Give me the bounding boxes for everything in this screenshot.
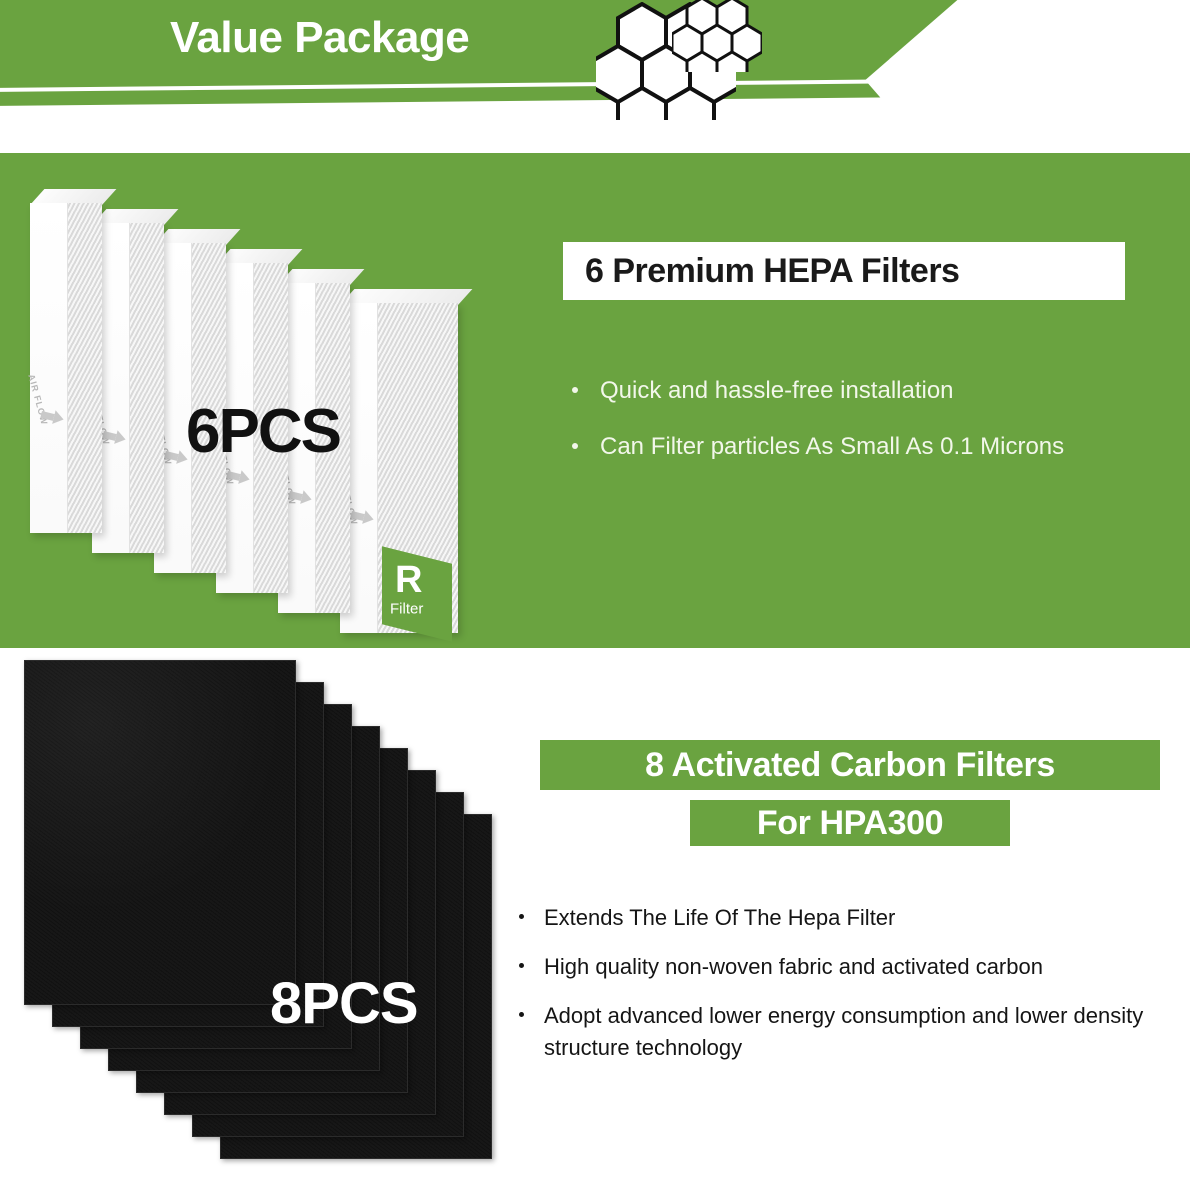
list-item: Adopt advanced lower energy consumption … bbox=[512, 1000, 1172, 1064]
hepa-filter-pleats bbox=[68, 203, 102, 533]
hepa-quantity-label: 6PCS bbox=[186, 396, 340, 467]
page-title: Value Package bbox=[170, 13, 469, 63]
carbon-title-text-line1: 8 Activated Carbon Filters bbox=[645, 746, 1055, 785]
hepa-filter-pleats bbox=[130, 223, 164, 553]
carbon-quantity-label: 8PCS bbox=[270, 970, 418, 1037]
honeycomb-small-icon bbox=[672, 0, 762, 72]
carbon-title-band-primary: 8 Activated Carbon Filters bbox=[540, 740, 1160, 790]
carbon-title-text-line2: For HPA300 bbox=[757, 804, 943, 843]
carbon-filters-illustration bbox=[24, 660, 494, 1170]
hepa-feature-list: Quick and hassle-free installation Can F… bbox=[566, 374, 1166, 486]
carbon-feature-list: Extends The Life Of The Hepa Filter High… bbox=[512, 902, 1172, 1081]
page-header: Value Package bbox=[0, 0, 1200, 140]
list-item: Quick and hassle-free installation bbox=[566, 374, 1166, 408]
list-item: Extends The Life Of The Hepa Filter bbox=[512, 902, 1172, 934]
hepa-title-text: 6 Premium HEPA Filters bbox=[585, 252, 959, 291]
hepa-title-box: 6 Premium HEPA Filters bbox=[563, 242, 1125, 300]
r-badge-word: Filter bbox=[390, 600, 423, 617]
hepa-filter-front-face bbox=[30, 203, 68, 533]
r-badge-letter: R bbox=[395, 561, 422, 599]
list-item: Can Filter particles As Small As 0.1 Mic… bbox=[566, 430, 1166, 464]
carbon-title-band-secondary: For HPA300 bbox=[690, 800, 1010, 846]
hepa-filter-1: AIR FLOW bbox=[30, 203, 102, 533]
hepa-filter-2: AIR FLOW bbox=[92, 223, 164, 553]
list-item: High quality non-woven fabric and activa… bbox=[512, 951, 1172, 983]
carbon-sheet-1 bbox=[24, 660, 296, 1005]
hepa-filter-6: AIR FLOW R Filter bbox=[340, 303, 458, 633]
